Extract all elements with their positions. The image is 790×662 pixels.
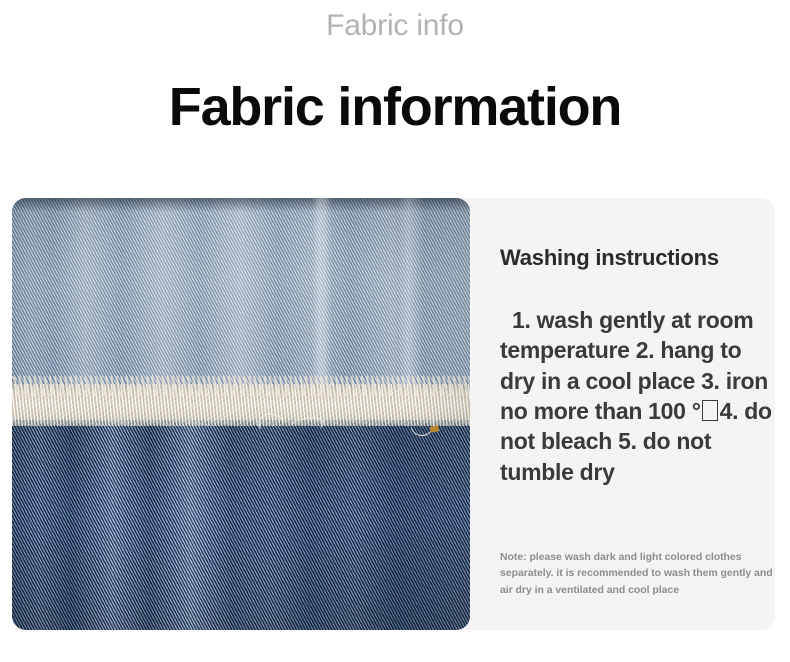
frayed-hem-edge — [12, 384, 470, 426]
washing-instructions-heading: Washing instructions — [500, 246, 719, 270]
denim-fabric-photo — [12, 198, 470, 630]
denim-lower-panel — [12, 420, 470, 630]
washing-note: Note: please wash dark and light colored… — [500, 549, 780, 598]
eyebrow-label: Fabric info — [0, 11, 790, 41]
washing-instructions-body: 1. wash gently at room temperature 2. ha… — [500, 305, 776, 487]
denim-vertical-seam — [312, 198, 332, 394]
missing-glyph-box — [702, 400, 718, 422]
denim-vertical-seam-secondary — [398, 198, 424, 394]
page-title: Fabric information — [0, 80, 790, 134]
